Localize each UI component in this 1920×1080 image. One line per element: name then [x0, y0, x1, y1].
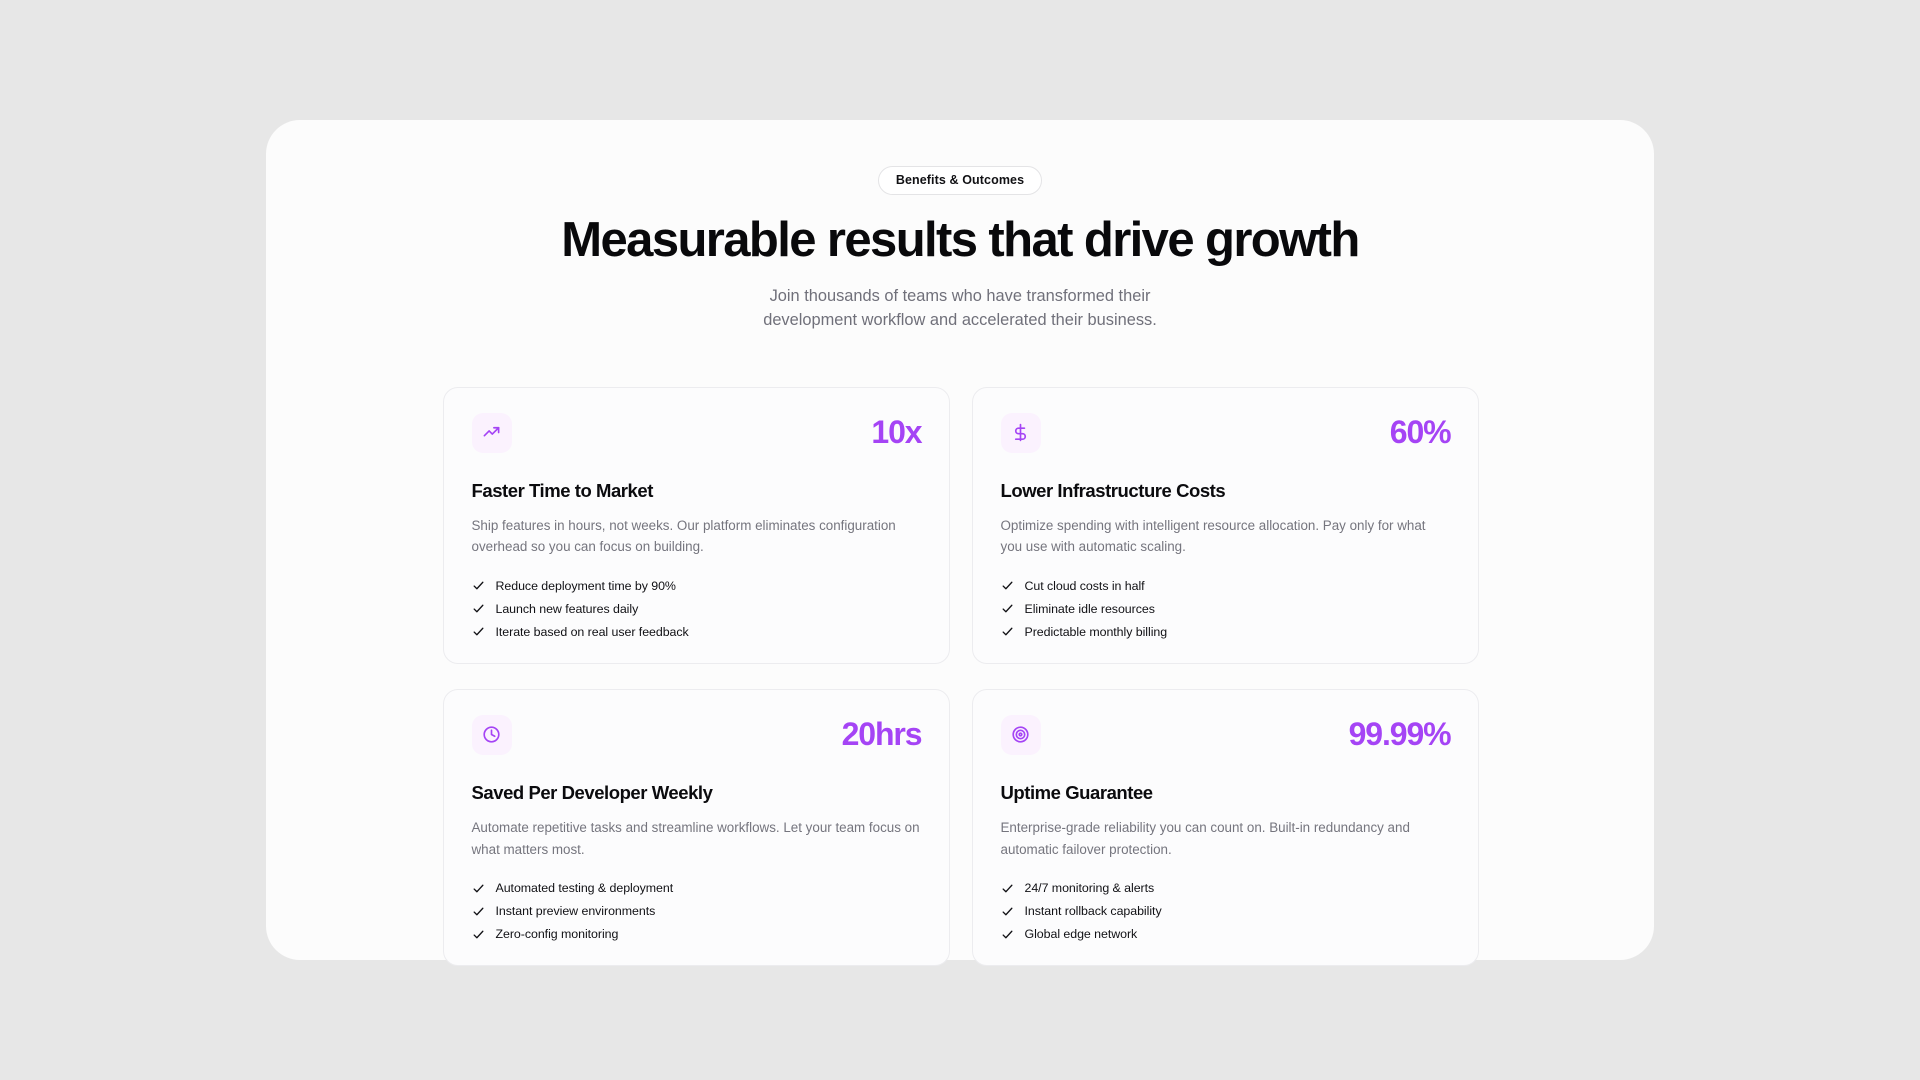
check-icon: [472, 579, 485, 592]
card-title: Saved Per Developer Weekly: [472, 782, 922, 804]
list-item: Launch new features daily: [472, 602, 922, 616]
check-icon: [472, 905, 485, 918]
feature-list: Cut cloud costs in half Eliminate idle r…: [1001, 579, 1451, 639]
section-badge: Benefits & Outcomes: [878, 166, 1042, 195]
check-icon: [1001, 882, 1014, 895]
feature-label: Global edge network: [1025, 927, 1138, 941]
stat-value: 20hrs: [842, 718, 922, 750]
feature-label: Instant rollback capability: [1025, 904, 1162, 918]
benefit-cards-grid: 10x Faster Time to Market Ship features …: [443, 387, 1478, 967]
benefit-card[interactable]: 99.99% Uptime Guarantee Enterprise-grade…: [972, 689, 1479, 966]
feature-label: Predictable monthly billing: [1025, 625, 1168, 639]
card-title: Faster Time to Market: [472, 480, 922, 502]
list-item: Instant preview environments: [472, 904, 922, 918]
feature-label: Cut cloud costs in half: [1025, 579, 1145, 593]
card-description: Ship features in hours, not weeks. Our p…: [472, 515, 922, 558]
page-background: Benefits & Outcomes Measurable results t…: [0, 0, 1920, 1080]
list-item: 24/7 monitoring & alerts: [1001, 881, 1451, 895]
feature-label: Instant preview environments: [496, 904, 656, 918]
dollar-sign-icon: [1001, 413, 1041, 453]
benefit-card[interactable]: 10x Faster Time to Market Ship features …: [443, 387, 950, 664]
feature-label: Automated testing & deployment: [496, 881, 674, 895]
check-icon: [1001, 625, 1014, 638]
feature-label: Launch new features daily: [496, 602, 639, 616]
check-icon: [472, 625, 485, 638]
check-icon: [472, 882, 485, 895]
card-description: Automate repetitive tasks and streamline…: [472, 817, 922, 860]
list-item: Cut cloud costs in half: [1001, 579, 1451, 593]
card-header: 10x: [472, 413, 922, 459]
benefit-card[interactable]: 20hrs Saved Per Developer Weekly Automat…: [443, 689, 950, 966]
list-item: Instant rollback capability: [1001, 904, 1451, 918]
card-title: Lower Infrastructure Costs: [1001, 480, 1451, 502]
feature-label: 24/7 monitoring & alerts: [1025, 881, 1155, 895]
target-icon: [1001, 715, 1041, 755]
page-title: Measurable results that drive growth: [306, 215, 1614, 267]
list-item: Iterate based on real user feedback: [472, 625, 922, 639]
stat-value: 60%: [1390, 416, 1451, 448]
list-item: Eliminate idle resources: [1001, 602, 1451, 616]
feature-label: Zero-config monitoring: [496, 927, 619, 941]
feature-label: Reduce deployment time by 90%: [496, 579, 676, 593]
check-icon: [1001, 928, 1014, 941]
section-header: Benefits & Outcomes Measurable results t…: [266, 166, 1654, 333]
benefit-card[interactable]: 60% Lower Infrastructure Costs Optimize …: [972, 387, 1479, 664]
stat-value: 99.99%: [1349, 718, 1451, 750]
stat-value: 10x: [871, 416, 921, 448]
clock-icon: [472, 715, 512, 755]
feature-list: 24/7 monitoring & alerts Instant rollbac…: [1001, 881, 1451, 941]
check-icon: [1001, 602, 1014, 615]
feature-list: Reduce deployment time by 90% Launch new…: [472, 579, 922, 639]
card-description: Enterprise-grade reliability you can cou…: [1001, 817, 1451, 860]
check-icon: [472, 602, 485, 615]
list-item: Automated testing & deployment: [472, 881, 922, 895]
list-item: Global edge network: [1001, 927, 1451, 941]
check-icon: [472, 928, 485, 941]
list-item: Reduce deployment time by 90%: [472, 579, 922, 593]
section-subtitle: Join thousands of teams who have transfo…: [725, 284, 1195, 333]
card-header: 20hrs: [472, 715, 922, 761]
card-header: 60%: [1001, 413, 1451, 459]
list-item: Predictable monthly billing: [1001, 625, 1451, 639]
check-icon: [1001, 905, 1014, 918]
card-header: 99.99%: [1001, 715, 1451, 761]
benefits-panel: Benefits & Outcomes Measurable results t…: [266, 120, 1654, 960]
card-title: Uptime Guarantee: [1001, 782, 1451, 804]
list-item: Zero-config monitoring: [472, 927, 922, 941]
feature-list: Automated testing & deployment Instant p…: [472, 881, 922, 941]
trending-up-icon: [472, 413, 512, 453]
feature-label: Eliminate idle resources: [1025, 602, 1155, 616]
check-icon: [1001, 579, 1014, 592]
card-description: Optimize spending with intelligent resou…: [1001, 515, 1451, 558]
feature-label: Iterate based on real user feedback: [496, 625, 689, 639]
